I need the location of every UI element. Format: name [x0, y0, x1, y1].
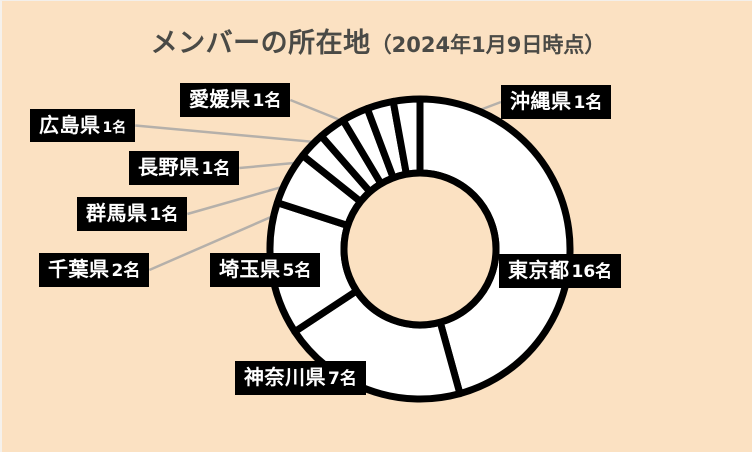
- callout-region-kanagawa: 神奈川県: [244, 365, 326, 389]
- callout-region-gunma: 群馬県: [86, 201, 148, 225]
- callout-count-okinawa: 1名: [574, 93, 603, 113]
- callout-okinawa: 沖縄県1名: [501, 85, 611, 119]
- callout-count-nagano: 1名: [202, 159, 231, 179]
- callout-nagano: 長野県1名: [129, 151, 239, 185]
- callout-saitama: 埼玉県5名: [210, 253, 320, 287]
- callout-tokyo: 東京都16名: [499, 254, 621, 288]
- callout-count-gunma: 1名: [150, 205, 179, 225]
- callout-region-chiba: 千葉県: [48, 257, 110, 281]
- callout-region-nagano: 長野県: [138, 155, 200, 179]
- callout-hiroshima: 広島県1名: [30, 109, 135, 142]
- callout-region-tokyo: 東京都: [508, 258, 570, 282]
- callout-region-hiroshima: 広島県: [39, 113, 101, 137]
- callout-count-hiroshima: 1名: [103, 120, 127, 136]
- callout-count-saitama: 5名: [283, 261, 312, 281]
- callout-region-okinawa: 沖縄県: [510, 89, 572, 113]
- donut-hole: [344, 173, 496, 325]
- callout-ehime: 愛媛県1名: [180, 83, 290, 117]
- callout-count-ehime: 1名: [253, 91, 282, 111]
- callout-count-chiba: 2名: [112, 261, 141, 281]
- callout-count-kanagawa: 7名: [328, 369, 357, 389]
- callout-gunma: 群馬県1名: [77, 197, 187, 231]
- callout-chiba: 千葉県2名: [39, 253, 149, 287]
- callout-region-saitama: 埼玉県: [219, 257, 281, 281]
- callout-region-ehime: 愛媛県: [189, 87, 251, 111]
- callout-count-tokyo: 16名: [572, 262, 613, 282]
- callout-kanagawa: 神奈川県7名: [235, 361, 366, 395]
- chart-canvas: メンバーの所在地（2024年1月9日時点） 東京都16名神奈川県7名埼玉県5名千…: [0, 0, 752, 452]
